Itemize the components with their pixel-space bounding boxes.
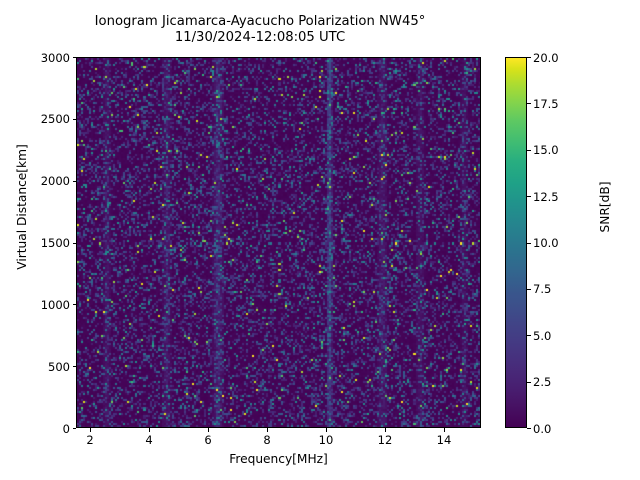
colorbar-tick-label: 7.5 — [533, 282, 551, 296]
colorbar-tick-mark — [527, 382, 531, 383]
y-axis-labels: 3000 2500 2000 1500 1000 500 0 — [0, 0, 70, 480]
colorbar-tick-mark — [527, 150, 531, 151]
y-tick-mark — [73, 304, 77, 305]
y-tick-label: 0 — [10, 422, 70, 436]
x-axis-title: Frequency[MHz] — [76, 452, 481, 466]
y-tick-mark — [73, 119, 77, 120]
colorbar-tick-mark — [527, 57, 531, 58]
colorbar-tick-label: 17.5 — [533, 97, 559, 111]
colorbar-tick-mark — [527, 243, 531, 244]
colorbar — [505, 57, 527, 428]
y-tick-mark — [73, 243, 77, 244]
x-tick-mark — [326, 428, 327, 432]
y-tick-mark — [73, 181, 77, 182]
x-tick-mark — [267, 428, 268, 432]
x-tick-label: 8 — [247, 433, 287, 447]
colorbar-tick-mark — [527, 428, 531, 429]
x-tick-label: 14 — [424, 433, 464, 447]
page-title: Ionogram Jicamarca-Ayacucho Polarization… — [0, 14, 520, 46]
colorbar-tick-mark — [527, 335, 531, 336]
colorbar-tick-mark — [527, 103, 531, 104]
colorbar-tick-label: 10.0 — [533, 236, 559, 250]
colorbar-tick-label: 20.0 — [533, 51, 559, 65]
colorbar-tick-label: 15.0 — [533, 143, 559, 157]
x-tick-mark — [385, 428, 386, 432]
x-tick-label: 6 — [188, 433, 228, 447]
y-tick-label: 500 — [10, 360, 70, 374]
x-tick-mark — [90, 428, 91, 432]
x-tick-mark — [444, 428, 445, 432]
y-tick-mark — [73, 366, 77, 367]
y-tick-label: 2500 — [10, 112, 70, 126]
colorbar-tick-label: 2.5 — [533, 375, 551, 389]
ionogram-plot-area — [76, 57, 481, 428]
x-tick-label: 2 — [70, 433, 110, 447]
x-tick-label: 4 — [129, 433, 169, 447]
x-tick-mark — [208, 428, 209, 432]
y-tick-label: 1000 — [10, 298, 70, 312]
colorbar-tick-label: 0.0 — [533, 422, 551, 436]
colorbar-title: SNR[dB] — [598, 137, 612, 277]
x-tick-label: 10 — [306, 433, 346, 447]
y-tick-mark — [73, 428, 77, 429]
y-axis-title: Virtual Distance[km] — [15, 127, 29, 287]
x-tick-mark — [149, 428, 150, 432]
y-tick-label: 3000 — [10, 51, 70, 65]
colorbar-tick-mark — [527, 196, 531, 197]
ionogram-heatmap-canvas — [77, 58, 481, 428]
y-tick-mark — [73, 57, 77, 58]
colorbar-tick-label: 5.0 — [533, 329, 551, 343]
colorbar-tick-label: 12.5 — [533, 190, 559, 204]
x-tick-label: 12 — [365, 433, 405, 447]
colorbar-tick-mark — [527, 289, 531, 290]
